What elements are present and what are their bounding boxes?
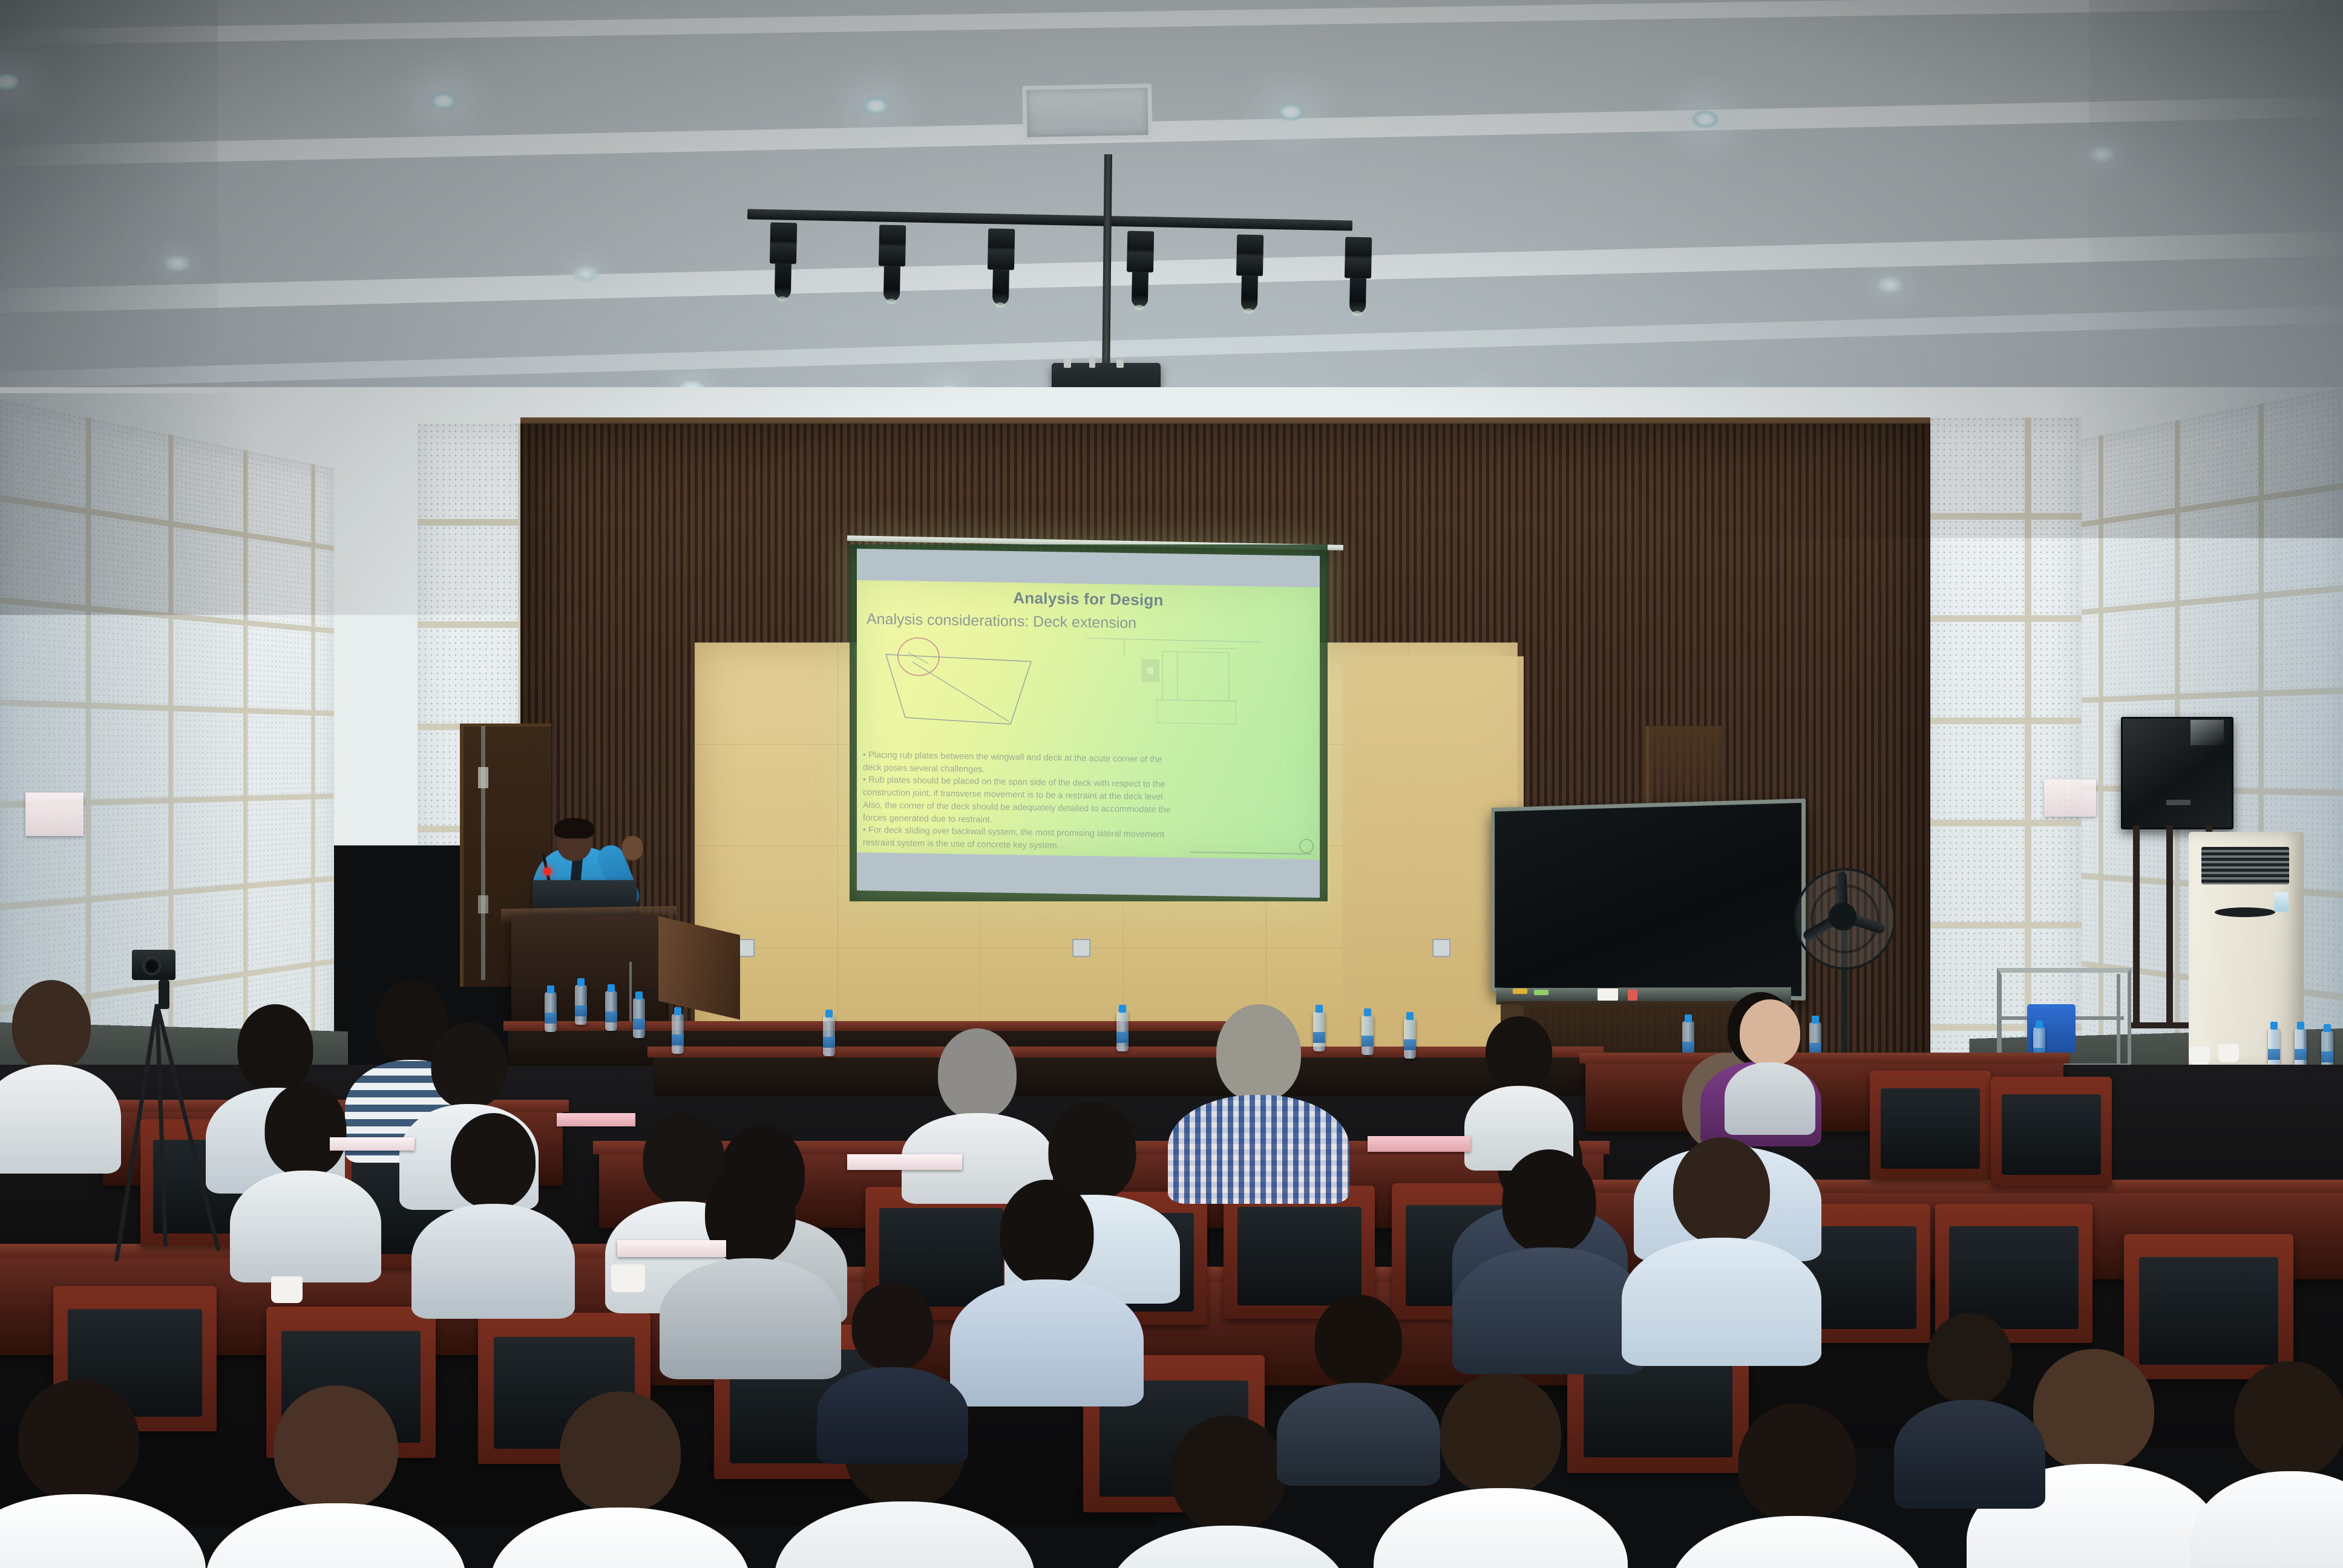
projector-knob <box>1116 359 1124 368</box>
attendee <box>490 1391 750 1568</box>
ac-control-label <box>2274 892 2289 912</box>
speaker-highlight <box>2191 720 2224 745</box>
audience-chair[interactable] <box>1991 1077 2112 1186</box>
water-bottle[interactable] <box>633 998 645 1038</box>
projector-knob <box>1064 358 1071 368</box>
attendee <box>1168 1004 1349 1186</box>
door-plate <box>478 895 488 913</box>
track-spotlight-icon <box>769 223 798 302</box>
track-spotlight-icon <box>1236 235 1264 315</box>
attendee <box>411 1113 575 1295</box>
display-board <box>1491 799 1806 1001</box>
presentation-slide: Analysis for Design Analysis considerati… <box>857 580 1320 860</box>
ceiling-downlight-icon <box>862 97 890 115</box>
attendee <box>660 1161 841 1355</box>
wall-outlet-icon <box>1432 939 1450 957</box>
microphone-led-indicator <box>543 867 551 875</box>
audience-chair[interactable] <box>1870 1071 1991 1180</box>
water-bottle[interactable] <box>605 991 617 1031</box>
slide-bullet-list: • Placing rub plates between the wingwal… <box>863 750 1309 857</box>
ac-vent-slot <box>2215 907 2275 917</box>
attendee <box>950 1180 1144 1379</box>
slide-logo-icon <box>1299 838 1314 853</box>
board-marker[interactable] <box>1513 988 1527 994</box>
cart-leg <box>1998 974 2002 1065</box>
attendee <box>1725 999 1815 1114</box>
paper-cup[interactable] <box>271 1276 303 1303</box>
ceiling <box>0 0 2343 423</box>
ceiling-vent-icon <box>1022 83 1153 142</box>
track-spotlight-icon <box>1126 231 1155 311</box>
water-bottle[interactable] <box>823 1016 835 1056</box>
attendee <box>1670 1403 1924 1568</box>
ceiling-downlight-icon <box>1876 276 1904 294</box>
tripod-handle[interactable] <box>159 980 169 1009</box>
wall-notice <box>2044 779 2096 817</box>
attendee <box>0 1379 206 1568</box>
water-bottle[interactable] <box>1404 1019 1416 1059</box>
ceiling-shadow-left <box>0 0 218 423</box>
attendee <box>206 1385 466 1568</box>
track-spotlight-icon <box>987 229 1015 309</box>
wall-notice <box>25 792 84 836</box>
ceiling-downlight-icon <box>572 265 600 283</box>
camera-lens-icon <box>143 957 161 975</box>
water-bottle[interactable] <box>1362 1015 1374 1055</box>
presenter-hand <box>622 836 643 860</box>
notepad[interactable] <box>847 1154 962 1170</box>
ceiling-beam-stripe <box>0 305 2343 390</box>
conference-hall-photo: Analysis for Design Analysis considerati… <box>0 0 2343 1568</box>
paper-cup[interactable] <box>611 1264 645 1292</box>
attendee <box>230 1083 381 1258</box>
attendee <box>1622 1137 1821 1343</box>
ceiling-beam-stripe <box>0 230 2343 314</box>
attendee <box>1464 1016 1573 1149</box>
paper-cup[interactable] <box>2189 1047 2210 1065</box>
ceiling-downlight-icon <box>2088 145 2115 163</box>
board-marker[interactable] <box>1534 990 1548 995</box>
ceiling-shadow-right <box>2089 0 2343 423</box>
notepad[interactable] <box>1150 1264 1271 1281</box>
attendee <box>0 980 121 1155</box>
paper-cup[interactable] <box>2218 1044 2239 1062</box>
slide-section-diagram <box>1081 631 1280 743</box>
projection-screen: Analysis for Design Analysis considerati… <box>857 549 1320 898</box>
ceiling-downlight-icon <box>430 92 457 110</box>
slide-title: Analysis for Design <box>857 586 1320 612</box>
door-plate <box>478 767 488 788</box>
door-jamb <box>481 726 485 980</box>
speaker-stand-leg <box>2133 826 2140 1025</box>
wall-outlet-icon <box>1072 939 1090 957</box>
fan-hub <box>1829 903 1856 930</box>
ceiling-beam-stripe <box>0 0 2343 45</box>
ceiling-beam-stripe <box>0 96 2343 167</box>
water-bottle[interactable] <box>2295 1028 2307 1068</box>
water-bottle[interactable] <box>2268 1028 2280 1068</box>
water-bottle[interactable] <box>672 1014 684 1054</box>
pink-notepad[interactable] <box>557 1113 635 1126</box>
ac-grille-icon <box>2201 847 2289 884</box>
pink-notepad[interactable] <box>1368 1136 1470 1152</box>
presenter-hair <box>554 818 594 838</box>
notepad[interactable] <box>617 1240 726 1257</box>
attendee <box>1452 1149 1646 1355</box>
attendee <box>817 1282 968 1434</box>
slide-subtitle: Analysis considerations: Deck extension <box>867 610 1136 632</box>
ceiling-downlight-icon <box>1277 103 1305 121</box>
track-spotlight-icon <box>878 225 906 305</box>
speaker-stand-leg <box>2166 826 2173 1025</box>
ceiling-downlight-icon <box>1691 110 1719 128</box>
water-bottle[interactable] <box>1116 1011 1129 1051</box>
notepad[interactable] <box>330 1137 415 1151</box>
speaker-badge <box>2166 800 2191 805</box>
slide-plan-diagram <box>881 636 1057 730</box>
cart-leg <box>2117 974 2120 1065</box>
attendee <box>1894 1313 2045 1482</box>
attendee <box>2191 1361 2343 1568</box>
attendee <box>1277 1295 1440 1452</box>
projector-knob <box>1089 356 1095 368</box>
water-bottle[interactable] <box>545 992 557 1032</box>
board-eraser[interactable] <box>1597 988 1618 1001</box>
track-spotlight-icon <box>1344 237 1372 317</box>
water-bottle[interactable] <box>575 985 587 1025</box>
audience-desk-row <box>654 1054 1597 1096</box>
board-marker[interactable] <box>1628 990 1637 1001</box>
ceiling-downlight-icon <box>163 254 191 272</box>
